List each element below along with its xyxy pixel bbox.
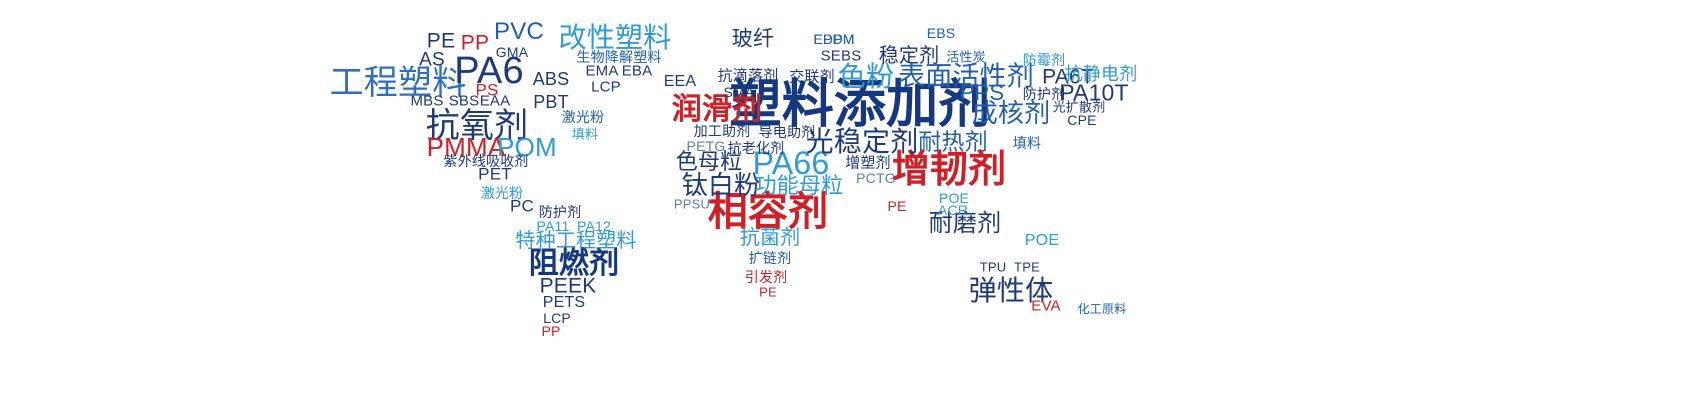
word-cloud-term[interactable]: EMA [585,64,618,79]
word-cloud-term[interactable]: CPE [1067,113,1096,127]
word-cloud-term[interactable]: 光扩散剂 [1053,101,1106,114]
word-cloud-term[interactable]: 紫外线吸收剂 [443,154,528,168]
word-cloud-term[interactable]: 功能母粒 [755,175,844,197]
word-cloud-term[interactable]: PPSU [674,198,710,211]
word-cloud-term[interactable]: GMA [496,45,529,59]
word-cloud-term[interactable]: PE [427,31,455,52]
word-cloud-term[interactable]: 填料 [1013,136,1041,150]
word-cloud-term[interactable]: EAA [480,94,511,109]
word-cloud-term[interactable]: AS [419,51,445,70]
word-cloud-canvas: 塑料添加剂相容剂增韧剂工程塑料抗氧剂阻燃剂润滑剂PA6PA66改性塑料光稳定剂表… [0,0,1707,400]
word-cloud-term[interactable]: 活性炭 [946,51,986,64]
word-cloud-term[interactable]: PP [461,33,489,54]
word-cloud-term[interactable]: PVC [494,20,544,44]
word-cloud-term[interactable]: LCP [591,80,621,95]
word-cloud-term[interactable]: 激光粉 [562,110,605,124]
word-cloud-term[interactable]: 耐热剂 [918,131,988,154]
word-cloud-term[interactable]: PETS [543,295,586,311]
word-cloud-term[interactable]: 色粉 [838,63,894,91]
word-cloud-term[interactable]: 稳定剂 [879,46,940,66]
word-cloud-term[interactable]: 抗滴落剂 [718,69,779,84]
word-cloud-term[interactable]: 引发剂 [745,270,788,284]
word-cloud-term[interactable]: 抗静电剂 [1065,65,1138,83]
word-cloud-term[interactable]: 化工原料 [1078,303,1127,315]
word-cloud-term[interactable]: PA11 [537,219,570,233]
word-cloud-term[interactable]: PE [887,199,906,213]
word-cloud-term[interactable]: 加工助剂 [694,124,751,138]
word-cloud-term[interactable]: PA12 [577,219,611,233]
word-cloud-term[interactable]: EBS [927,26,956,40]
word-cloud-term[interactable]: 导电助剂 [759,125,816,139]
word-cloud-term[interactable]: 生物降解塑料 [576,50,661,64]
word-cloud-term[interactable]: ACR [938,203,968,217]
word-cloud-term[interactable]: 增塑剂 [845,156,891,171]
word-cloud-term[interactable]: PE [759,286,777,299]
word-cloud-term[interactable]: 玻纤 [732,29,774,50]
word-cloud-term[interactable]: PETG [687,139,726,153]
word-cloud-term[interactable]: 填料 [572,128,598,141]
word-cloud-term[interactable]: 防护剂 [539,205,582,219]
word-cloud-term[interactable]: PCTG [856,171,896,185]
word-cloud-term[interactable]: 防霉剂 [1023,53,1066,67]
word-cloud-term[interactable]: 扩链剂 [749,251,792,265]
word-cloud-term[interactable]: SBS [449,94,480,109]
word-cloud-term[interactable]: TPU [980,261,1007,274]
word-cloud-term[interactable]: EVA [1031,299,1061,314]
word-cloud-term[interactable]: PPS [960,82,1005,104]
word-cloud-term[interactable]: 改性塑料 [559,24,672,52]
word-cloud-term[interactable]: MBS [410,94,443,109]
word-cloud-term[interactable]: SMA [724,85,755,99]
word-cloud-term[interactable]: 特种工程塑料 [515,231,636,251]
word-cloud-term[interactable]: 抗菌剂 [740,228,801,248]
word-cloud-term[interactable]: 工程塑料 [330,66,467,100]
word-cloud-term[interactable]: 抗老化剂 [728,141,785,155]
word-cloud-term[interactable]: EPDM [813,32,854,46]
word-cloud-term[interactable]: SEBS [821,49,862,64]
word-cloud-term[interactable]: POE [1025,233,1059,249]
word-cloud-term[interactable]: EBA [622,64,653,79]
word-cloud-term[interactable]: 激光粉 [481,186,524,200]
word-cloud-term[interactable]: TPE [1014,261,1040,274]
word-cloud-term[interactable]: EEA [664,74,697,90]
word-cloud-term[interactable]: PP [541,324,560,338]
word-cloud-term[interactable]: 交联剂 [789,70,835,85]
word-cloud-term[interactable]: 钛白粉 [682,172,761,198]
word-cloud-term[interactable]: 光稳定剂 [806,128,919,156]
word-cloud-term[interactable]: ABS [533,70,570,88]
